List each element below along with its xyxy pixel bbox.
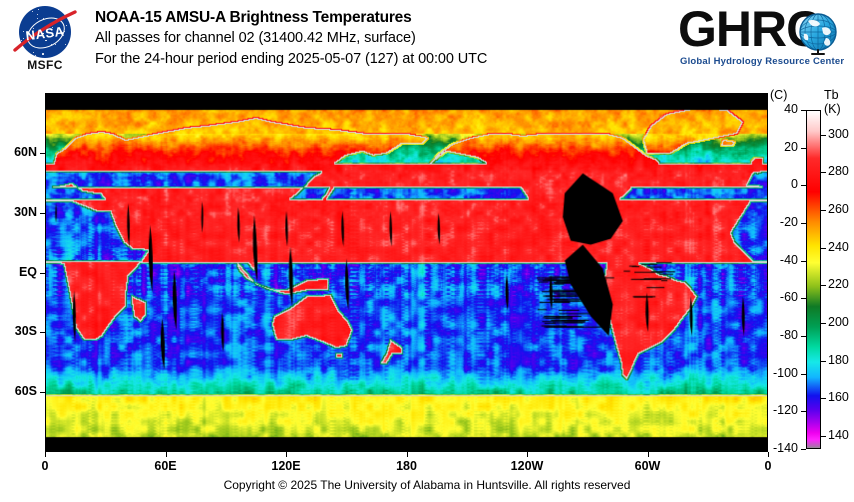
- colorbar-celsius-label: 20: [758, 140, 798, 154]
- x-axis-tick: [407, 452, 408, 457]
- colorbar-kelvin-tick: [821, 323, 826, 324]
- y-axis-tick: [40, 153, 45, 154]
- globe-icon: [796, 12, 840, 56]
- x-axis-label: 120E: [256, 459, 316, 473]
- colorbar-kelvin-header: Tb (K): [824, 88, 854, 116]
- x-axis-tick: [648, 452, 649, 457]
- colorbar-kelvin-tick: [821, 248, 826, 249]
- colorbar-kelvin-label: 280: [828, 164, 854, 178]
- colorbar-celsius-tick: [801, 336, 806, 337]
- colorbar-celsius-label: -140: [758, 441, 798, 455]
- x-axis-label: 180: [377, 459, 437, 473]
- y-axis-label: 60N: [0, 145, 37, 159]
- ghrc-tagline-text: Global Hydrology Resource Center: [680, 56, 844, 67]
- colorbar-kelvin-label: 160: [828, 390, 854, 404]
- subtitle-channel: All passes for channel 02 (31400.42 MHz,…: [95, 28, 487, 49]
- colorbar-kelvin-label: 180: [828, 353, 854, 367]
- colorbar-celsius-tick: [801, 110, 806, 111]
- y-axis-label: EQ: [0, 265, 37, 279]
- colorbar-kelvin-label: 300: [828, 127, 854, 141]
- colorbar-celsius-tick: [801, 185, 806, 186]
- y-axis-label: 30N: [0, 205, 37, 219]
- x-axis-tick: [527, 452, 528, 457]
- colorbar-celsius-label: 40: [758, 102, 798, 116]
- x-axis-label: 0: [738, 459, 798, 473]
- msfc-label: MSFC: [13, 58, 77, 72]
- colorbar-celsius-tick: [801, 449, 806, 450]
- y-axis-tick: [40, 273, 45, 274]
- title-block: NOAA-15 AMSU-A Brightness Temperatures A…: [95, 8, 487, 70]
- y-axis-label: 30S: [0, 324, 37, 338]
- colorbar-kelvin-label: 220: [828, 277, 854, 291]
- colorbar-kelvin-label: 240: [828, 240, 854, 254]
- subtitle-period: For the 24-hour period ending 2025-05-07…: [95, 49, 487, 70]
- colorbar-kelvin-tick: [821, 172, 826, 173]
- y-axis-tick: [40, 213, 45, 214]
- colorbar: [806, 110, 821, 449]
- colorbar-celsius-tick: [801, 223, 806, 224]
- colorbar-celsius-label: 0: [758, 177, 798, 191]
- brightness-temperature-map[interactable]: [45, 93, 768, 452]
- colorbar-celsius-label: -20: [758, 215, 798, 229]
- colorbar-kelvin-label: 200: [828, 315, 854, 329]
- colorbar-celsius-label: -60: [758, 290, 798, 304]
- y-axis-tick: [40, 332, 45, 333]
- colorbar-kelvin-tick: [821, 210, 826, 211]
- colorbar-celsius-label: -40: [758, 253, 798, 267]
- x-axis-tick: [286, 452, 287, 457]
- colorbar-kelvin-tick: [821, 436, 826, 437]
- nasa-logo: NASA MSFC: [13, 6, 77, 70]
- colorbar-celsius-tick: [801, 261, 806, 262]
- y-axis-label: 60S: [0, 384, 37, 398]
- colorbar-celsius-tick: [801, 298, 806, 299]
- x-axis-tick: [166, 452, 167, 457]
- colorbar-celsius-label: -80: [758, 328, 798, 342]
- x-axis-label: 60W: [618, 459, 678, 473]
- y-axis-tick: [40, 392, 45, 393]
- colorbar-celsius-label: -120: [758, 403, 798, 417]
- colorbar-kelvin-tick: [821, 398, 826, 399]
- copyright-notice: Copyright © 2025 The University of Alaba…: [0, 478, 854, 492]
- page-title: NOAA-15 AMSU-A Brightness Temperatures: [95, 8, 487, 28]
- colorbar-celsius-header: (C): [770, 88, 787, 102]
- ghrc-tagline: Global Hydrology Resource Center: [680, 56, 844, 67]
- colorbar-celsius-label: -100: [758, 366, 798, 380]
- colorbar-gradient: [807, 111, 820, 448]
- colorbar-kelvin-tick: [821, 285, 826, 286]
- x-axis-label: 60E: [136, 459, 196, 473]
- colorbar-celsius-tick: [801, 148, 806, 149]
- x-axis-label: 120W: [497, 459, 557, 473]
- map-raster: [46, 94, 767, 451]
- colorbar-kelvin-label: 260: [828, 202, 854, 216]
- colorbar-kelvin-tick: [821, 361, 826, 362]
- ghrc-logo: GHRC Global Hydrology Resource Center: [678, 4, 842, 74]
- colorbar-kelvin-label: 140: [828, 428, 854, 442]
- colorbar-kelvin-tick: [821, 135, 826, 136]
- x-axis-tick: [45, 452, 46, 457]
- colorbar-celsius-tick: [801, 374, 806, 375]
- colorbar-celsius-tick: [801, 411, 806, 412]
- x-axis-label: 0: [15, 459, 75, 473]
